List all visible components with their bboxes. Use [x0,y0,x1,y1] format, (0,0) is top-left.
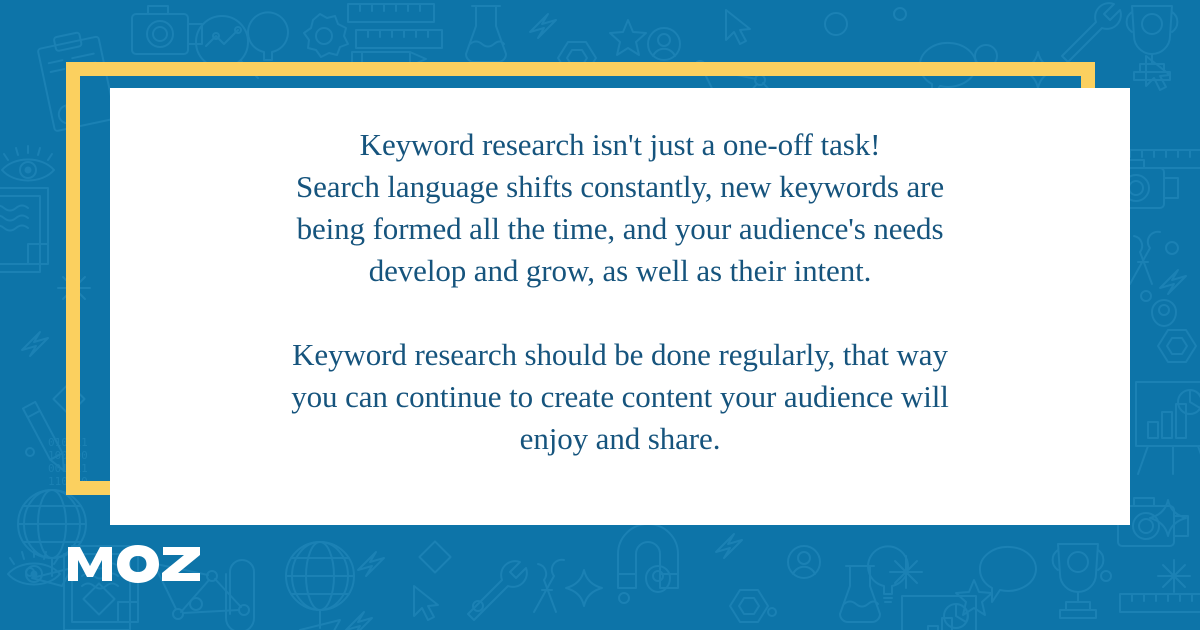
quote-paragraph-1: Keyword research isn't just a one-off ta… [150,124,1090,292]
quote-paragraph-2: Keyword research should be done regularl… [150,334,1090,460]
moz-logo[interactable] [68,543,200,585]
quote-text-block: Keyword research isn't just a one-off ta… [150,124,1090,460]
social-quote-card: 010011 100100 001011 110010 [0,0,1200,630]
paragraph-spacer [150,292,1090,334]
